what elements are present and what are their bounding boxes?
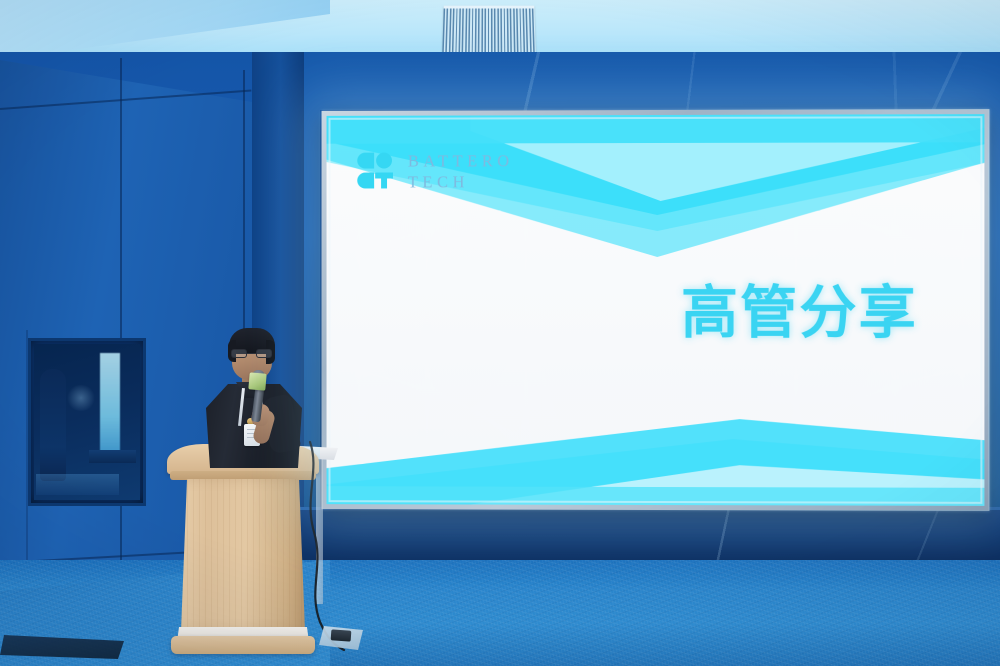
slide-title: 高管分享	[681, 267, 918, 349]
battero-logo-wordmark: BATTERO TECH	[408, 152, 514, 190]
eyeglasses-icon	[231, 349, 273, 358]
microphone-flag	[248, 372, 266, 390]
window-reflection-glare	[66, 385, 96, 411]
presentation-room-photo: BATTERO TECH 高管分享	[0, 0, 1000, 666]
window-floor-reflection	[36, 474, 119, 496]
floor-audio-device	[331, 629, 352, 641]
battero-logo: BATTERO TECH	[357, 152, 513, 190]
lectern-wood-grain	[181, 479, 305, 631]
slide-canvas: BATTERO TECH 高管分享	[327, 114, 985, 506]
presentation-screen[interactable]: BATTERO TECH 高管分享	[322, 109, 990, 511]
wooden-lectern	[167, 444, 319, 656]
window-glass	[34, 344, 140, 500]
logo-line-1: BATTERO	[408, 152, 514, 169]
lectern-body	[181, 479, 305, 631]
slide-top-band	[327, 114, 985, 144]
battero-logo-mark-icon	[357, 153, 397, 191]
lectern-lip	[170, 471, 316, 480]
recessed-wall-window	[28, 338, 146, 506]
window-reflection-figure	[40, 369, 66, 481]
presenter	[194, 326, 314, 466]
window-ledge	[89, 450, 136, 462]
ceiling-air-vent-icon	[442, 6, 536, 54]
slide-bottom-band	[327, 486, 985, 506]
wall-seam	[120, 58, 122, 614]
window-light-strip	[100, 353, 120, 459]
lectern-foot	[171, 636, 315, 654]
logo-line-2: TECH	[408, 173, 514, 190]
